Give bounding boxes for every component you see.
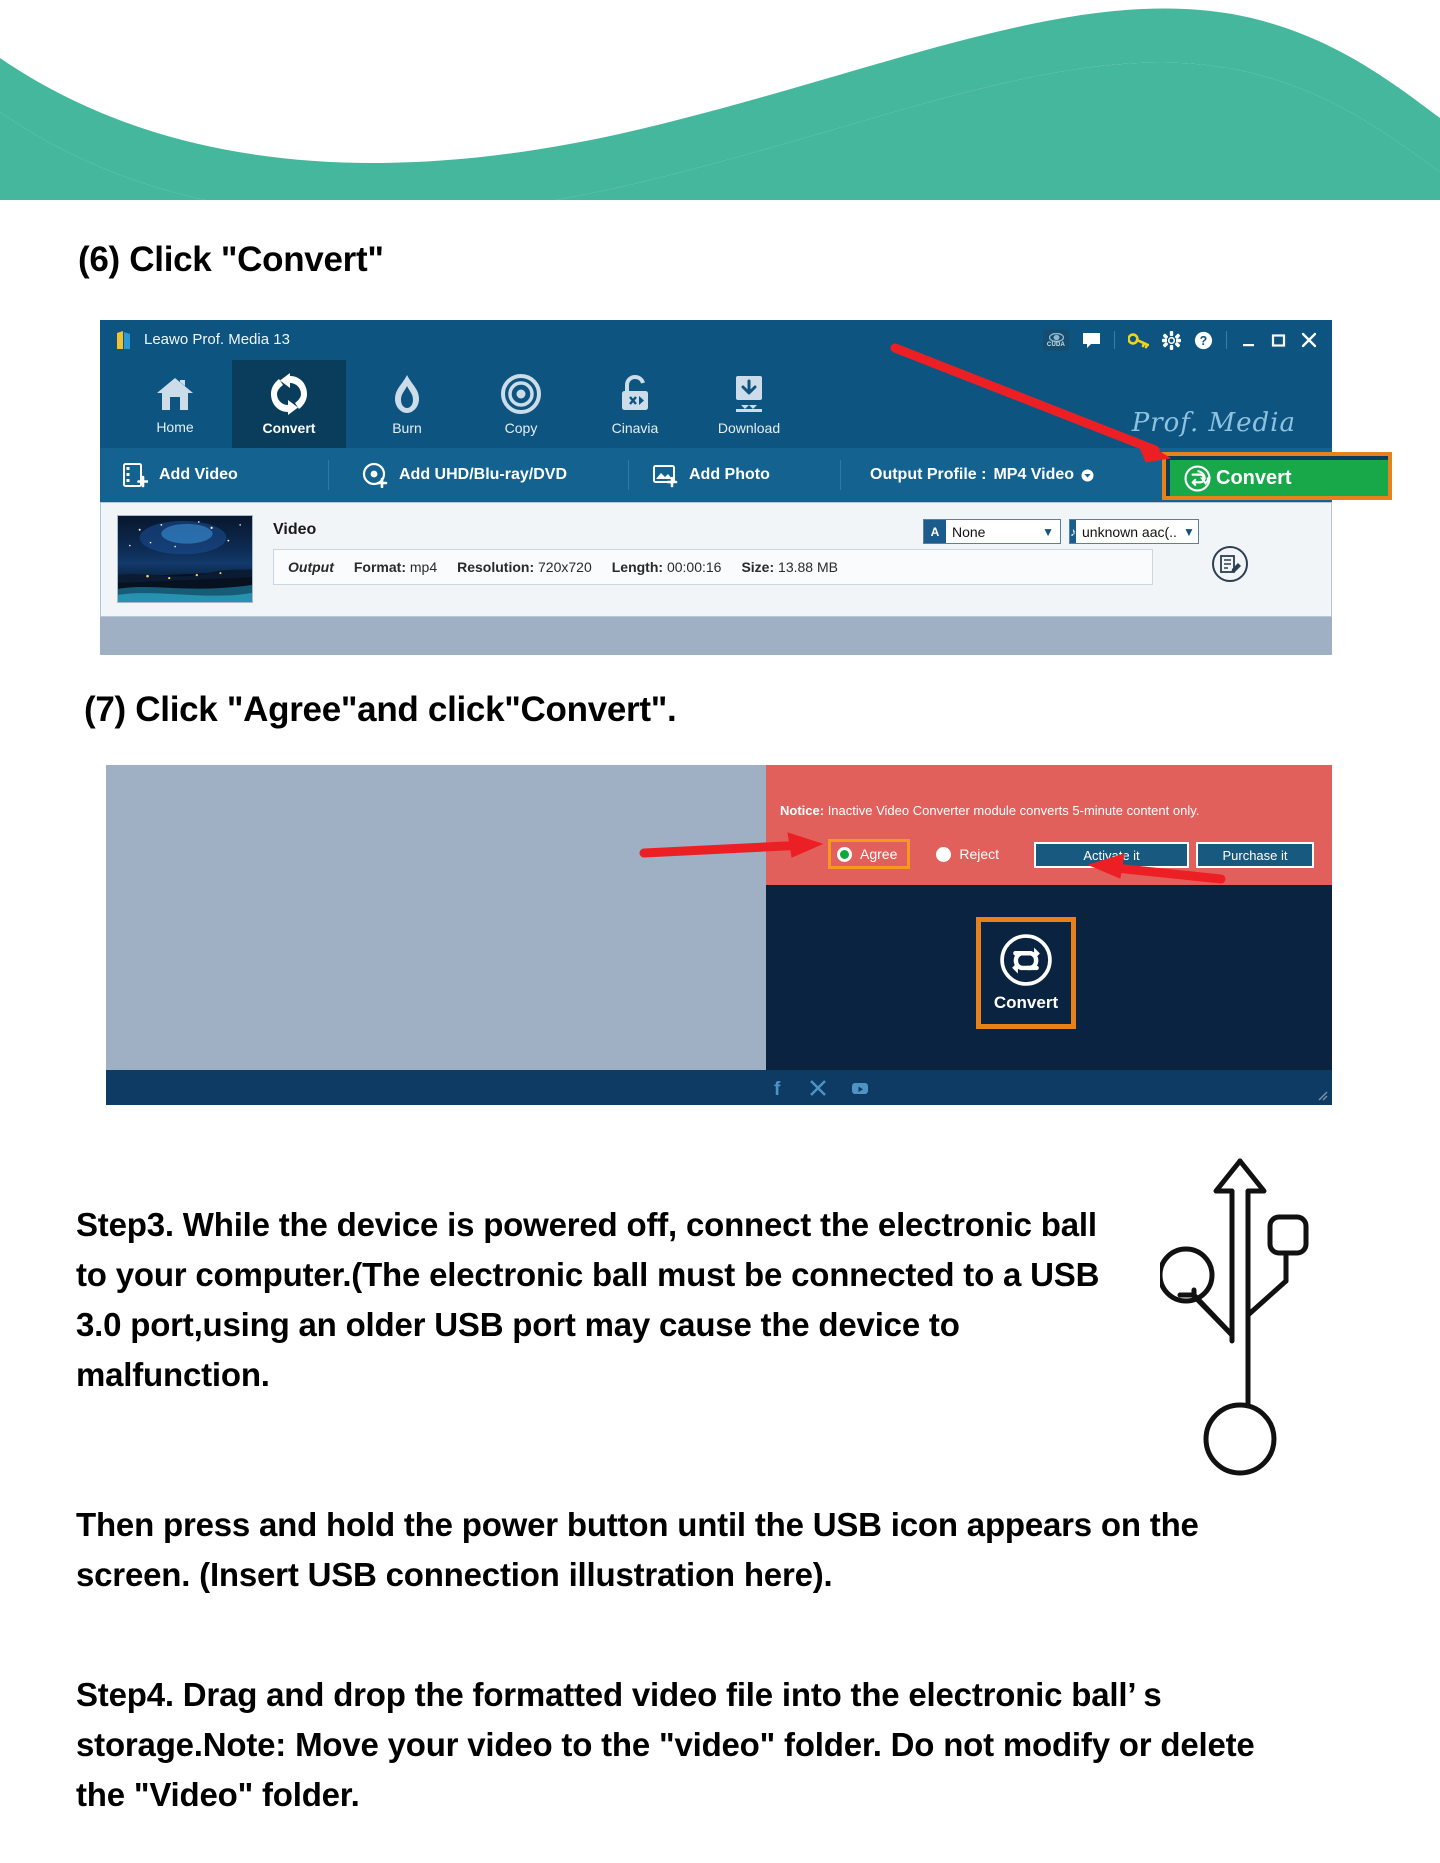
heading-step-6: (6) Click "Convert" <box>78 240 384 280</box>
resize-grip-icon[interactable] <box>1316 1089 1328 1101</box>
nav-label: Copy <box>505 420 538 436</box>
leawo-app-screenshot: Leawo Prof. Media 13 CUDA ? <box>100 320 1332 655</box>
output-info-strip: Output Format: mp4 Resolution: 720x720 L… <box>273 549 1153 585</box>
add-disc-button[interactable]: Add UHD/Blu-ray/DVD <box>362 448 567 502</box>
convert-refresh-icon <box>999 933 1053 987</box>
feedback-chat-icon[interactable] <box>1082 332 1101 349</box>
reject-radio-option[interactable]: Reject <box>936 846 999 862</box>
media-row-title: Video <box>273 521 316 539</box>
decorative-wave-header <box>0 0 1440 200</box>
preview-pane <box>106 765 766 1070</box>
size-key: Size: <box>741 559 774 575</box>
nav-label: Cinavia <box>612 420 659 436</box>
notice-prefix: Notice: <box>780 803 824 818</box>
subtitle-value: None <box>946 524 1042 540</box>
agree-reject-group: Agree Reject <box>828 839 999 869</box>
svg-text:f: f <box>774 1079 781 1098</box>
home-icon <box>153 374 197 414</box>
format-key: Format: <box>354 559 406 575</box>
nav-tab-burn[interactable]: Burn <box>350 360 464 448</box>
add-video-button[interactable]: Add Video <box>122 448 238 502</box>
maximize-icon[interactable] <box>1270 332 1287 349</box>
length-value: 00:00:16 <box>667 559 722 575</box>
media-list-panel: Video Output Format: mp4 Resolution: 720… <box>100 502 1332 617</box>
audio-select[interactable]: ♪ unknown aac(.. ▼ <box>1069 519 1199 544</box>
add-photo-label: Add Photo <box>689 466 770 484</box>
nav-tab-home[interactable]: Home <box>118 360 232 448</box>
length-key: Length: <box>612 559 663 575</box>
caret-down-icon: ▼ <box>1183 525 1201 539</box>
notice-body: Inactive Video Converter module converts… <box>828 803 1200 818</box>
radio-unselected-icon <box>936 847 951 862</box>
add-video-label: Add Video <box>159 466 238 484</box>
purchase-it-button[interactable]: Purchase it <box>1196 842 1314 868</box>
convert-refresh-icon <box>267 373 311 415</box>
reject-label: Reject <box>959 846 999 862</box>
cuda-label: CUDA <box>1047 342 1065 348</box>
facebook-icon[interactable]: f <box>766 1078 786 1098</box>
output-label: Output <box>288 559 334 575</box>
activate-it-button[interactable]: Activate it <box>1034 842 1189 868</box>
video-thumbnail[interactable] <box>117 515 253 603</box>
resolution-key: Resolution: <box>457 559 534 575</box>
disc-copy-icon <box>500 373 542 415</box>
flame-burn-icon <box>386 373 428 415</box>
dialog-convert-label: Convert <box>994 993 1058 1013</box>
divider <box>628 460 629 490</box>
add-disc-label: Add UHD/Blu-ray/DVD <box>399 466 567 484</box>
app-title: Leawo Prof. Media 13 <box>144 331 290 348</box>
notice-message: Notice: Inactive Video Converter module … <box>780 803 1199 818</box>
add-photo-button[interactable]: Add Photo <box>652 448 770 502</box>
paragraph-step4: Step4. Drag and drop the formatted video… <box>76 1670 1291 1820</box>
dialog-convert-button[interactable]: Convert <box>976 917 1076 1029</box>
main-nav-bar: Home Convert Burn Copy <box>100 360 1332 448</box>
add-photo-icon <box>652 462 678 488</box>
divider <box>1114 331 1115 349</box>
output-profile-selector[interactable]: Output Profile : MP4 Video <box>870 448 1094 502</box>
help-question-icon[interactable]: ? <box>1194 331 1213 350</box>
app-titlebar: Leawo Prof. Media 13 CUDA ? <box>100 320 1332 360</box>
divider <box>1226 331 1227 349</box>
nav-label: Convert <box>263 420 316 436</box>
convert-refresh-icon <box>1184 465 1211 492</box>
youtube-icon[interactable] <box>850 1078 870 1098</box>
key-register-icon[interactable] <box>1128 332 1149 349</box>
add-video-icon <box>122 462 148 488</box>
x-twitter-icon[interactable] <box>808 1078 828 1098</box>
convert-button[interactable]: Convert <box>1170 460 1388 496</box>
audio-value: unknown aac(.. <box>1076 524 1183 540</box>
nav-tab-copy[interactable]: Copy <box>464 360 578 448</box>
svg-text:?: ? <box>1200 334 1208 348</box>
nav-tab-cinavia[interactable]: Cinavia <box>578 360 692 448</box>
divider <box>840 460 841 490</box>
action-toolbar: Add Video Add UHD/Blu-ray/DVD Add Photo … <box>100 448 1332 502</box>
nav-label: Burn <box>392 420 422 436</box>
window-controls: CUDA ? <box>1043 326 1318 354</box>
edit-media-icon[interactable] <box>1211 545 1249 583</box>
subtitle-select[interactable]: A None ▼ <box>923 519 1061 544</box>
thumbnail-art <box>118 516 252 603</box>
brand-script-text: Prof. Media <box>1132 408 1296 438</box>
gear-settings-icon[interactable] <box>1162 331 1181 350</box>
leawo-logo-icon <box>116 331 136 350</box>
dialog-footer: f <box>106 1070 1332 1105</box>
divider <box>328 460 329 490</box>
subtitle-icon: A <box>924 520 946 543</box>
paragraph-step3: Step3. While the device is powered off, … <box>76 1200 1136 1401</box>
download-icon <box>728 373 770 415</box>
size-value: 13.88 MB <box>778 559 838 575</box>
paragraph-step3b: Then press and hold the power button unt… <box>76 1500 1276 1600</box>
minimize-icon[interactable] <box>1240 332 1257 349</box>
close-icon[interactable] <box>1300 331 1318 349</box>
radio-selected-icon <box>837 847 852 862</box>
format-value: mp4 <box>410 559 437 575</box>
nav-label: Home <box>156 419 193 435</box>
notice-banner: Notice: Inactive Video Converter module … <box>766 765 1332 885</box>
convert-dialog-screenshot: Notice: Inactive Video Converter module … <box>106 765 1332 1105</box>
nav-tab-convert[interactable]: Convert <box>232 360 346 448</box>
nav-label: Download <box>718 420 780 436</box>
agree-radio-option[interactable]: Agree <box>828 839 910 869</box>
nav-tab-download[interactable]: Download <box>692 360 806 448</box>
unlock-cinavia-icon <box>614 373 656 415</box>
agree-label: Agree <box>860 846 897 862</box>
output-profile-label: Output Profile : <box>870 466 986 484</box>
caret-down-icon: ▼ <box>1042 525 1060 539</box>
output-profile-value: MP4 Video <box>993 466 1074 484</box>
heading-step-7: (7) Click "Agree"and click"Convert". <box>84 690 676 730</box>
convert-button-label: Convert <box>1216 467 1292 490</box>
caret-down-icon <box>1081 469 1094 482</box>
cuda-badge-icon[interactable]: CUDA <box>1043 329 1069 351</box>
convert-button-highlight: Convert <box>1162 452 1392 500</box>
add-disc-icon <box>362 462 388 488</box>
resolution-value: 720x720 <box>538 559 592 575</box>
usb-trident-icon <box>1160 1155 1320 1485</box>
